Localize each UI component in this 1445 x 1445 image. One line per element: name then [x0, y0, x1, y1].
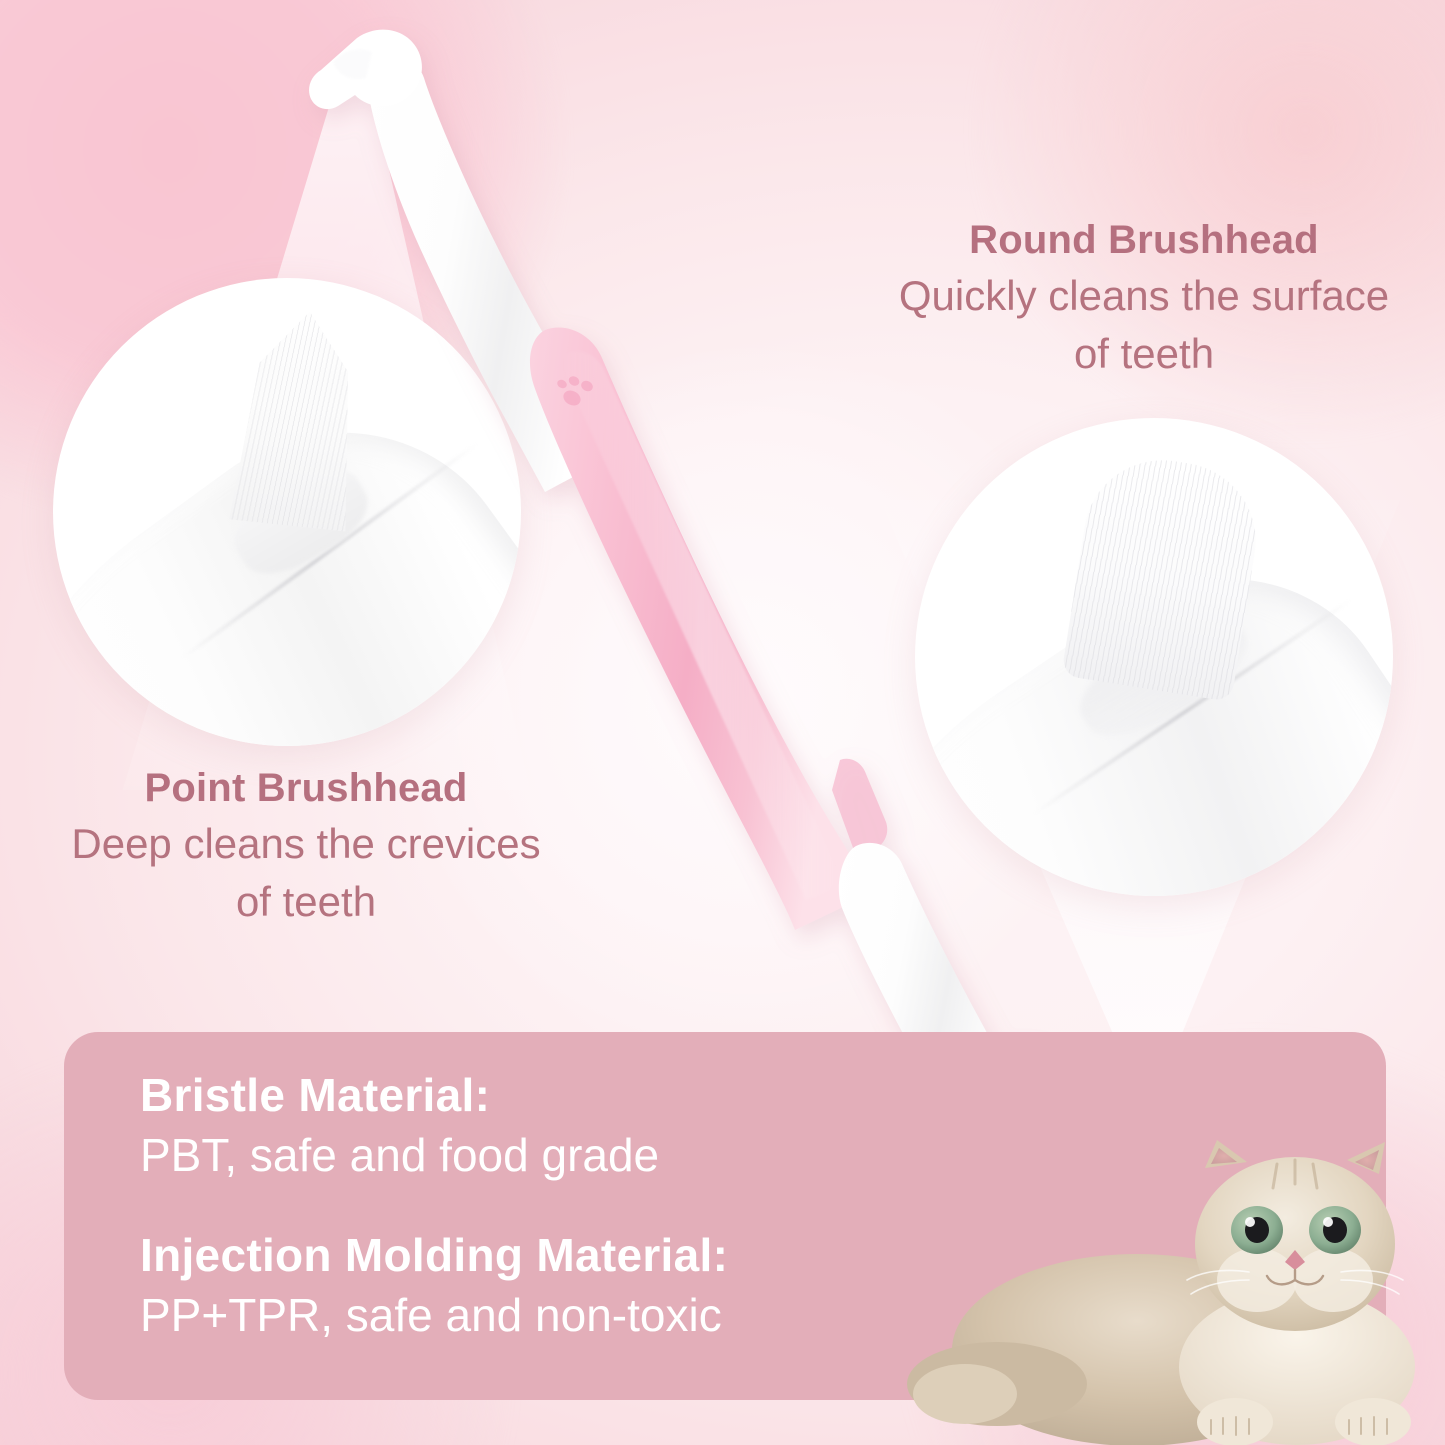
feature-title: Round Brushhead [838, 218, 1445, 263]
spec-row-bristle-material: Bristle Material: PBT, safe and food gra… [140, 1068, 659, 1183]
round-bristle-tuft [1061, 449, 1267, 703]
point-brushhead-inset [53, 278, 521, 746]
spec-label: Bristle Material: [140, 1068, 659, 1122]
cat-eye-left-glint [1245, 1217, 1255, 1227]
infographic-canvas: Round Brushhead Quickly cleans the surfa… [0, 0, 1445, 1445]
spec-value: PBT, safe and food grade [140, 1128, 659, 1182]
feature-description-line-2: of teeth [6, 877, 606, 927]
feature-description-line-1: Quickly cleans the surface [838, 271, 1445, 321]
cat-photo [905, 1122, 1445, 1445]
cat-eye-right-glint [1323, 1217, 1333, 1227]
cat-cheek-right [1293, 1248, 1373, 1312]
spec-row-injection-molding-material: Injection Molding Material: PP+TPR, safe… [140, 1228, 728, 1343]
cat-cheek-left [1217, 1248, 1297, 1312]
feature-label-round-brushhead: Round Brushhead Quickly cleans the surfa… [838, 218, 1445, 380]
feature-description-line-1: Deep cleans the crevices [6, 819, 606, 869]
round-brushhead-inset [915, 418, 1393, 896]
cat-rear-paw [913, 1364, 1017, 1424]
spec-value: PP+TPR, safe and non-toxic [140, 1288, 728, 1342]
round-brushhead-image [915, 418, 1393, 896]
cat-illustration [907, 1140, 1415, 1445]
feature-label-point-brushhead: Point Brushhead Deep cleans the crevices… [6, 766, 606, 928]
feature-title: Point Brushhead [6, 766, 606, 811]
spec-label: Injection Molding Material: [140, 1228, 728, 1282]
feature-description-line-2: of teeth [838, 329, 1445, 379]
point-brushhead-image [53, 278, 521, 746]
